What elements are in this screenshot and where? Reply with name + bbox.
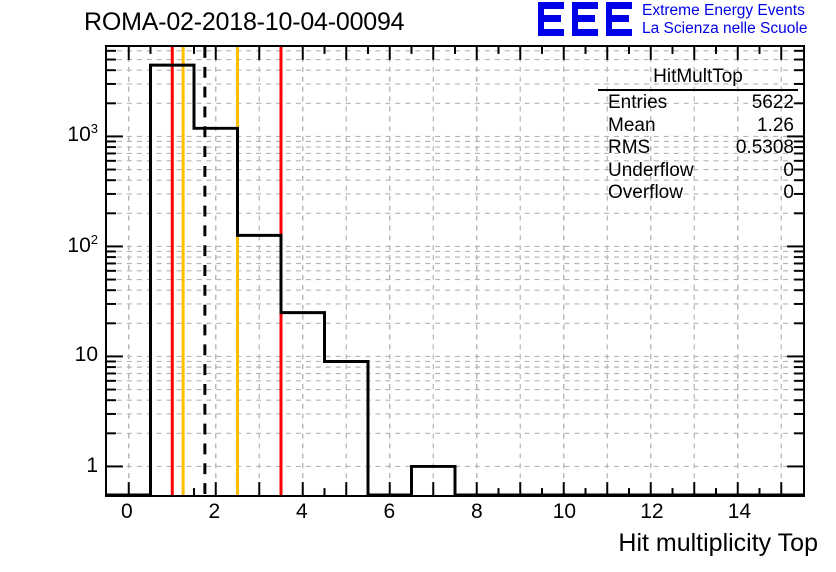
logo-text: Extreme Energy Events La Scienza nelle S… — [642, 2, 807, 38]
x-tick-label-12: 12 — [632, 500, 672, 524]
x-tick-label-2: 2 — [194, 500, 234, 524]
y-axis-tick-labels: 110102103 — [38, 45, 98, 497]
x-tick-label-10: 10 — [544, 500, 584, 524]
stats-value: 1.26 — [757, 115, 794, 137]
stats-key: Entries — [608, 92, 667, 114]
stats-value: 0.5308 — [736, 137, 794, 159]
y-tick-label-10e2: 102 — [67, 232, 98, 258]
logo-letter-e-3 — [606, 2, 632, 36]
x-axis-title: Hit multiplicity Top — [618, 529, 818, 558]
stats-row-overflow: Overflow0 — [598, 182, 798, 204]
stats-value: 0 — [783, 182, 794, 204]
logo-letter-e-1 — [538, 2, 564, 36]
stats-key: Mean — [608, 115, 656, 137]
x-tick-label-0: 0 — [107, 500, 147, 524]
stats-value: 5622 — [752, 92, 794, 114]
stats-row-rms: RMS0.5308 — [598, 137, 798, 159]
logo-text-line2: La Scienza nelle Scuole — [642, 20, 807, 38]
stats-key: RMS — [608, 137, 650, 159]
root-canvas: ROMA-02-2018-10-04-00094 Extreme Energy … — [0, 0, 836, 572]
logo-text-line1: Extreme Energy Events — [642, 2, 807, 20]
stats-box: HitMultTop Entries5622Mean1.26RMS0.5308U… — [598, 66, 798, 207]
eee-letters-icon — [538, 2, 634, 36]
eee-logo: Extreme Energy Events La Scienza nelle S… — [538, 2, 834, 40]
stats-row-entries: Entries5622 — [598, 92, 798, 114]
stats-key: Underflow — [608, 160, 694, 182]
stats-value: 0 — [783, 160, 794, 182]
x-tick-label-8: 8 — [457, 500, 497, 524]
stats-row-underflow: Underflow0 — [598, 160, 798, 182]
x-axis-tick-labels: 02468101214 — [105, 500, 805, 530]
stats-title: HitMultTop — [598, 66, 798, 91]
y-tick-label-1: 1 — [86, 454, 98, 478]
page-title: ROMA-02-2018-10-04-00094 — [84, 8, 404, 37]
stats-key: Overflow — [608, 182, 683, 204]
logo-letter-e-2 — [572, 2, 598, 36]
x-tick-label-6: 6 — [369, 500, 409, 524]
y-tick-label-10e3: 103 — [67, 121, 98, 147]
stats-row-mean: Mean1.26 — [598, 115, 798, 137]
x-tick-label-4: 4 — [282, 500, 322, 524]
x-tick-label-14: 14 — [719, 500, 759, 524]
y-tick-label-10: 10 — [75, 343, 98, 367]
